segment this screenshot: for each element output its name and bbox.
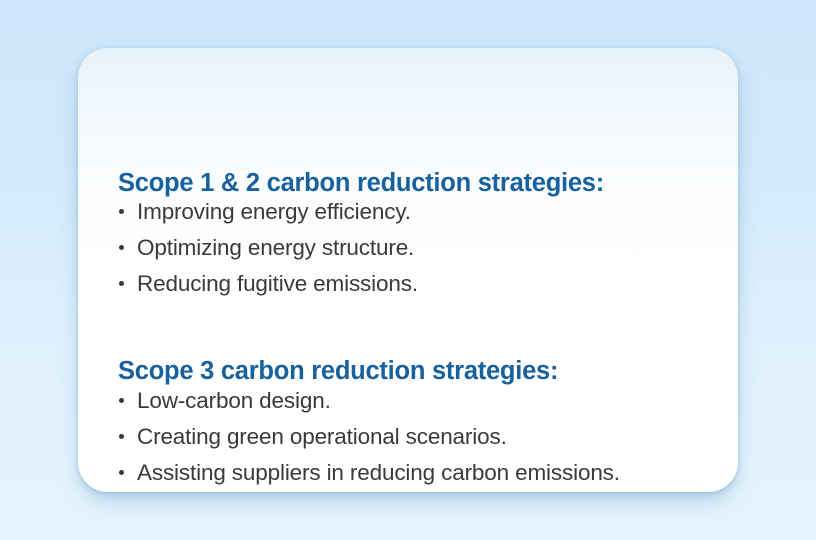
list-item: Assisting suppliers in reducing carbon e… [118, 455, 620, 491]
list-item: Low-carbon design. [118, 383, 620, 419]
list-item-label: Assisting suppliers in reducing carbon e… [137, 460, 620, 485]
card-content-area: Scope 1 & 2 carbon reduction strategies:… [118, 48, 720, 492]
bullet-dot-icon [119, 434, 124, 439]
bullet-dot-icon [119, 209, 124, 214]
list-item-label: Creating green operational scenarios. [137, 424, 507, 449]
bullet-dot-icon [119, 470, 124, 475]
list-item-label: Optimizing energy structure. [137, 235, 414, 260]
bullet-list-scope-1-2: Improving energy efficiency. Optimizing … [118, 194, 418, 302]
content-card: Scope 1 & 2 carbon reduction strategies:… [78, 48, 738, 492]
list-item-label: Improving energy efficiency. [137, 199, 411, 224]
bullet-dot-icon [119, 245, 124, 250]
list-item: Optimizing energy structure. [118, 230, 418, 266]
list-item: Creating green operational scenarios. [118, 419, 620, 455]
list-item-label: Low-carbon design. [137, 388, 331, 413]
bullet-dot-icon [119, 281, 124, 286]
list-item: Reducing fugitive emissions. [118, 266, 418, 302]
list-item-label: Reducing fugitive emissions. [137, 271, 418, 296]
bullet-list-scope-3: Low-carbon design. Creating green operat… [118, 383, 620, 491]
list-item: Improving energy efficiency. [118, 194, 418, 230]
slide-canvas: Scope 1 & 2 carbon reduction strategies:… [0, 0, 816, 540]
bullet-dot-icon [119, 398, 124, 403]
section-heading-scope-3: Scope 3 carbon reduction strategies: [118, 356, 558, 386]
